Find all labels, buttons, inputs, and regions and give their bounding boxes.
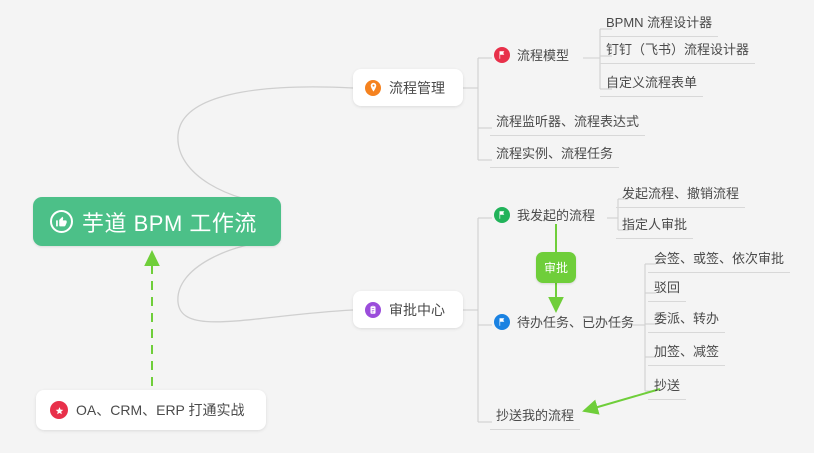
annotation-approve-pill-label: 审批: [544, 259, 568, 276]
leaf-start-cancel-process[interactable]: 发起流程、撤销流程: [616, 183, 745, 208]
node-my-started[interactable]: 我发起的流程: [494, 205, 595, 224]
star-icon: [50, 401, 68, 419]
leaf-dingtalk-designer[interactable]: 钉钉（飞书）流程设计器: [600, 39, 755, 64]
leaf-custom-form[interactable]: 自定义流程表单: [600, 72, 703, 97]
edge-root-to-flow-management: [178, 87, 353, 205]
node-label-my-started: 我发起的流程: [517, 205, 595, 224]
annotation-approve-pill: 审批: [536, 252, 576, 283]
leaf-add-remove-sign[interactable]: 加签、减签: [648, 341, 725, 366]
leaf-flow-listener[interactable]: 流程监听器、流程表达式: [490, 111, 645, 136]
mindmap-canvas: 芋道 BPM 工作流 流程管理 流程模型 BPMN 流程设计器 钉钉（飞书）流程…: [0, 0, 814, 453]
leaf-cc[interactable]: 抄送: [648, 375, 686, 400]
leaf-reject[interactable]: 驳回: [648, 277, 686, 302]
thumbs-up-icon: [50, 210, 73, 233]
leaf-flow-instance[interactable]: 流程实例、流程任务: [490, 143, 619, 168]
clipboard-icon: [365, 302, 381, 318]
leaf-bpmn-designer[interactable]: BPMN 流程设计器: [600, 12, 718, 37]
footnote-node[interactable]: OA、CRM、ERP 打通实战: [36, 390, 266, 430]
flag-icon: [494, 207, 510, 223]
leaf-delegate-transfer[interactable]: 委派、转办: [648, 308, 725, 333]
branch-label-approval-center: 审批中心: [389, 300, 445, 320]
flag-icon: [494, 47, 510, 63]
edge-root-to-approval-center: [178, 240, 353, 322]
node-flow-model[interactable]: 流程模型: [494, 45, 569, 64]
flag-icon: [494, 314, 510, 330]
branch-label-flow-management: 流程管理: [389, 78, 445, 98]
leaf-cc-to-me[interactable]: 抄送我的流程: [490, 405, 580, 430]
location-pin-icon: [365, 80, 381, 96]
node-label-flow-model: 流程模型: [517, 45, 569, 64]
root-label: 芋道 BPM 工作流: [82, 206, 257, 238]
leaf-countersign[interactable]: 会签、或签、依次审批: [648, 248, 790, 273]
node-todo-done[interactable]: 待办任务、已办任务: [494, 312, 634, 331]
leaf-assignee-approve[interactable]: 指定人审批: [616, 214, 693, 239]
node-label-todo-done: 待办任务、已办任务: [517, 312, 634, 331]
footnote-label: OA、CRM、ERP 打通实战: [76, 400, 245, 420]
branch-node-approval-center[interactable]: 审批中心: [353, 291, 463, 328]
root-node[interactable]: 芋道 BPM 工作流: [33, 197, 281, 246]
branch-node-flow-management[interactable]: 流程管理: [353, 69, 463, 106]
